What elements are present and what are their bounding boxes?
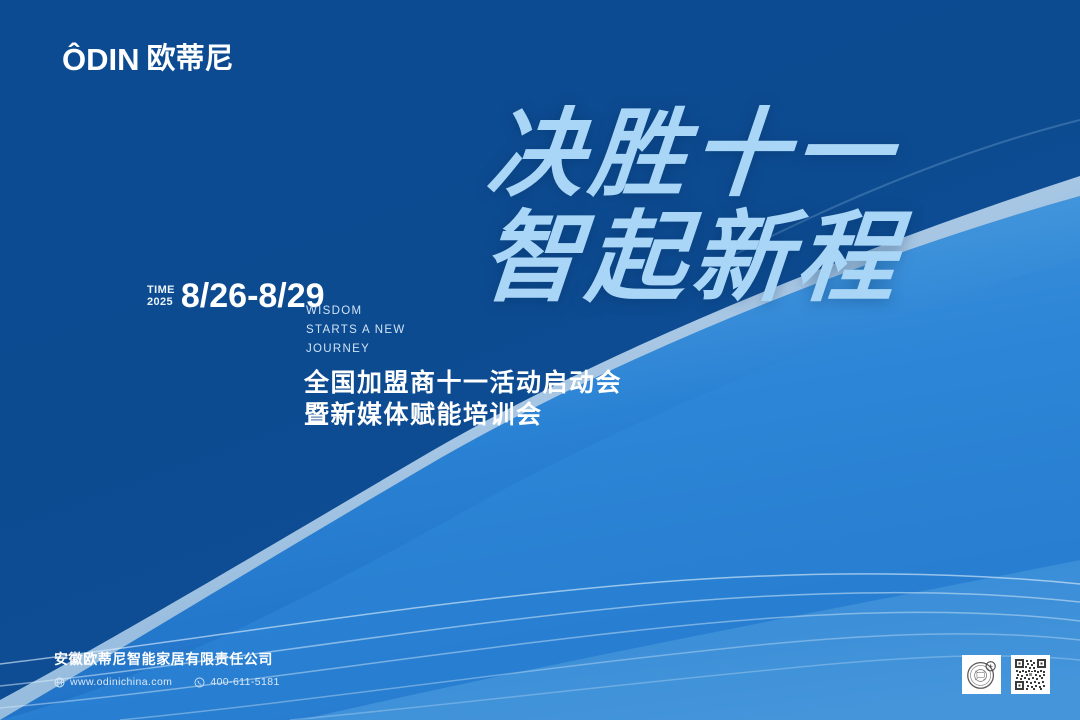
tagline-line-1: WISDOM (306, 302, 406, 321)
headline-line-2: 智起新程 (478, 211, 906, 305)
event-subtitle: 全国加盟商十一活动启动会 暨新媒体赋能培训会 (304, 367, 622, 431)
badge-group (962, 655, 1050, 694)
footer: 安徽欧蒂尼智能家居有限责任公司 www.odinichina.com (54, 649, 280, 688)
website-text: www.odinichina.com (70, 676, 172, 688)
phone-icon (194, 677, 205, 688)
tagline-line-2: STARTS A NEW (306, 321, 406, 340)
time-label-year: 2025 (147, 297, 175, 309)
odin-wordmark-icon: ÔDIN (62, 44, 140, 75)
phone-text: 400-611-5181 (210, 676, 279, 688)
circular-seal-icon (965, 658, 998, 691)
qr-code-icon (1014, 658, 1047, 691)
brand-logo: ÔDIN 欧蒂尼 (62, 44, 234, 75)
contact-info: www.odinichina.com 400-611-5181 (54, 676, 280, 688)
english-tagline: WISDOM STARTS A NEW JOURNEY (306, 302, 406, 359)
date-range: 8/26-8/29 (181, 279, 325, 313)
wechat-qr-badge[interactable] (1011, 655, 1050, 694)
subtitle-line-1: 全国加盟商十一活动启动会 (304, 367, 622, 399)
time-label: TIME 2025 (147, 285, 175, 309)
subtitle-line-2: 暨新媒体赋能培训会 (304, 399, 622, 431)
company-seal-badge[interactable] (962, 655, 1001, 694)
headline-line-1: 决胜十一 (478, 108, 900, 199)
globe-icon (54, 677, 65, 688)
company-name: 安徽欧蒂尼智能家居有限责任公司 (54, 649, 280, 669)
website-contact[interactable]: www.odinichina.com (54, 676, 172, 688)
poster-canvas: ÔDIN 欧蒂尼 决胜十一 智起新程 TIME 2025 8/26-8/29 W… (0, 0, 1080, 720)
tagline-line-3: JOURNEY (306, 340, 406, 359)
headline: 决胜十一 智起新程 (482, 108, 902, 305)
event-date: TIME 2025 8/26-8/29 (147, 279, 325, 313)
phone-contact[interactable]: 400-611-5181 (194, 676, 279, 688)
brand-logo-chinese: 欧蒂尼 (147, 45, 234, 74)
